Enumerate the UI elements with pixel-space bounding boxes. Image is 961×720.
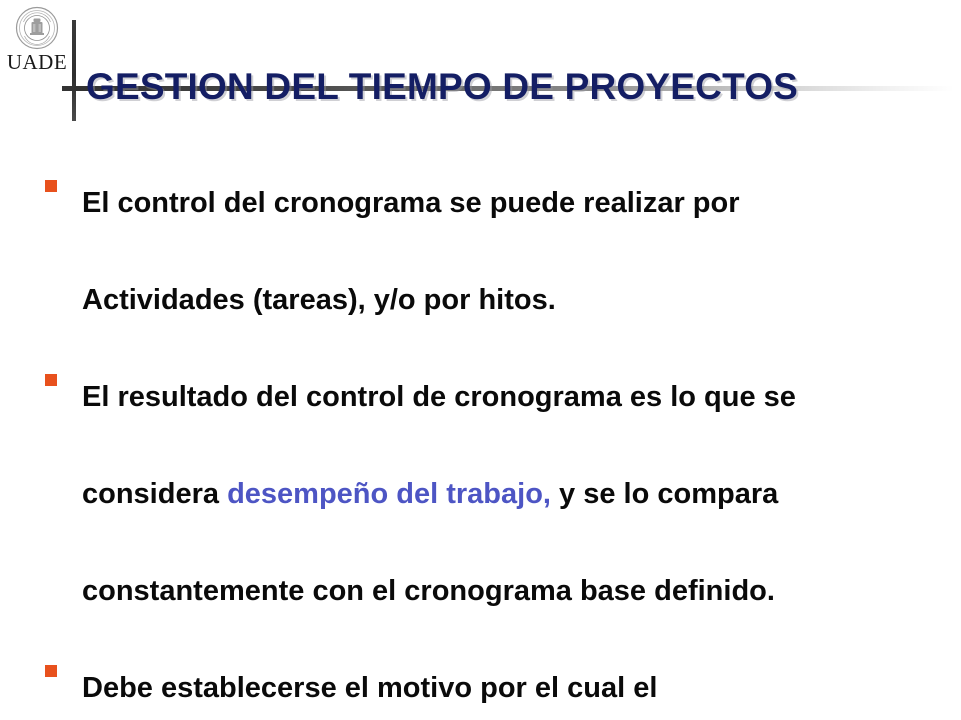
bullet-line: Actividades (tareas), y/o por hitos. [82, 266, 941, 334]
bullet-group: Debe establecerse el motivo por el cual … [0, 654, 961, 720]
bullet-line: El control del cronograma se puede reali… [82, 169, 941, 237]
uade-logo: UADE [4, 6, 70, 78]
uade-wordmark: UADE [4, 51, 70, 73]
header-vertical-rule [72, 20, 76, 121]
slide: UADE GESTION DEL TIEMPO DE PROYECTOS El … [0, 0, 961, 720]
text-segment: El control del cronograma se puede reali… [82, 187, 740, 219]
bullet-group: El resultado del control de cronograma e… [0, 363, 961, 625]
bullet-text-block: Debe establecerse el motivo por el cual … [0, 654, 961, 720]
text-segment: Actividades (tareas), y/o por hitos. [82, 284, 556, 316]
page-title: GESTION DEL TIEMPO DE PROYECTOS [86, 67, 798, 107]
bullet-square-icon [45, 665, 57, 677]
slide-header: UADE GESTION DEL TIEMPO DE PROYECTOS [0, 0, 961, 130]
bullet-line: constantemente con el cronograma base de… [82, 557, 941, 625]
highlighted-term: desempeño del trabajo, [227, 478, 551, 510]
bullet-text-block: El resultado del control de cronograma e… [0, 363, 961, 625]
text-segment: constantemente con el cronograma base de… [82, 575, 775, 607]
bullet-square-icon [45, 180, 57, 192]
text-segment: Debe establecerse el motivo por el cual … [82, 672, 657, 704]
bullet-line: considera desempeño del trabajo, y se lo… [82, 460, 941, 528]
text-segment: considera [82, 478, 227, 510]
bullet-group: El control del cronograma se puede reali… [0, 169, 961, 334]
bullet-square-icon [45, 374, 57, 386]
slide-body: El control del cronograma se puede reali… [0, 140, 961, 720]
text-segment: y se lo compara [551, 478, 778, 510]
bullet-text-block: El control del cronograma se puede reali… [0, 169, 961, 334]
bullet-line: El resultado del control de cronograma e… [82, 363, 941, 431]
bullet-line: Debe establecerse el motivo por el cual … [82, 654, 941, 720]
text-segment: El resultado del control de cronograma e… [82, 381, 796, 413]
uade-circular-seal-icon [15, 6, 59, 50]
bullet-list: El control del cronograma se puede reali… [0, 169, 961, 720]
